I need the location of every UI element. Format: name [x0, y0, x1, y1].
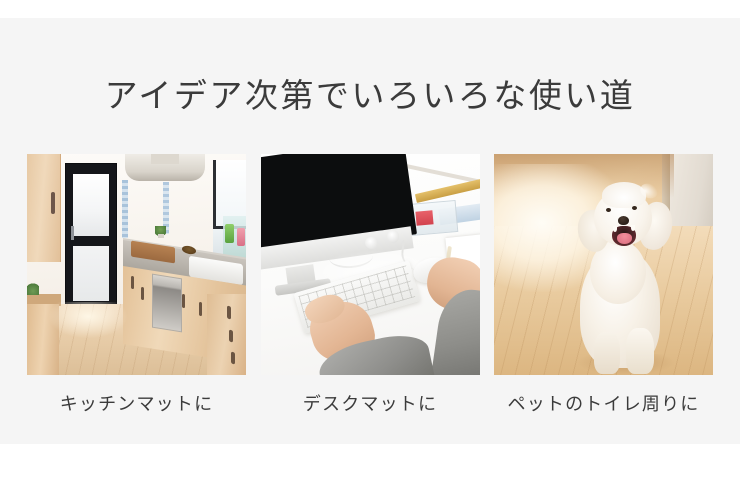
usage-card-caption: ペットのトイレ周りに [494, 392, 713, 416]
drawer-handle [229, 329, 233, 342]
poodle-tooth-left [613, 226, 617, 232]
kitchen-floor-sunlight [49, 302, 127, 338]
poodle-tongue [617, 233, 632, 244]
poodle-tooth-right [631, 225, 635, 231]
cabinet-handle [131, 276, 134, 289]
desk-photo [261, 154, 480, 375]
cabinet-handle [182, 294, 185, 308]
door-handle [71, 226, 74, 240]
usage-card-caption: デスクマットに [261, 392, 480, 416]
drawer-handle [227, 305, 231, 319]
kitchen-side-plant [27, 282, 39, 295]
earbud [387, 230, 399, 243]
usage-card-list: キッチンマットに [27, 154, 713, 416]
cabinet-handle [199, 302, 202, 316]
door-glass-upper [73, 174, 109, 236]
usage-card-desk[interactable]: デスクマットに [261, 154, 480, 416]
door-glass-lower [73, 246, 109, 301]
kitchen-bottle-pink [237, 228, 245, 246]
earbud [365, 237, 378, 249]
kitchen-bottle-green [225, 224, 234, 243]
kitchen-potted-plant [155, 226, 166, 238]
kitchen-upper-cabinet-left [27, 154, 61, 262]
drawer-handle [231, 351, 235, 364]
poodle-eye-left [606, 208, 611, 212]
poodle-topknot [602, 182, 646, 208]
page-title: アイデア次第でいろいろな使い道 [0, 76, 740, 116]
usage-card-caption: キッチンマットに [27, 392, 246, 416]
poodle-front-leg-left [594, 332, 620, 374]
poodle-nose [618, 216, 629, 225]
kitchen-photo [27, 154, 246, 375]
kitchen-oven [152, 274, 182, 333]
usage-card-pet[interactable]: ペットのトイレ周りに [494, 154, 713, 416]
kitchen-mosaic-tile-left [122, 180, 128, 238]
cabinet-handle [141, 287, 144, 300]
usage-card-kitchen[interactable]: キッチンマットに [27, 154, 246, 416]
range-hood-duct [151, 154, 179, 164]
poodle-front-leg-right [626, 328, 654, 374]
promo-page: アイデア次第でいろいろな使い道 [0, 0, 740, 481]
pet-photo [494, 154, 713, 375]
poodle-eye-right [632, 206, 637, 210]
red-card [415, 210, 433, 225]
